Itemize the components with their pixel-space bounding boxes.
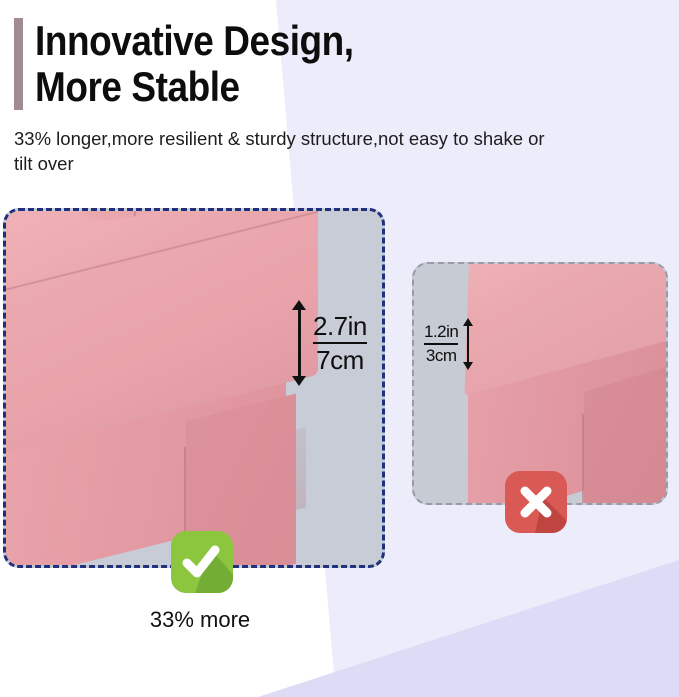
page-title: Innovative Design, More Stable — [35, 18, 354, 110]
ottoman-short-illustration — [414, 264, 666, 503]
measurement-metric-main: 7cm — [313, 345, 367, 375]
double-arrow-icon-alt — [463, 318, 474, 370]
page-subtitle: 33% longer,more resilient & sturdy struc… — [14, 126, 554, 176]
cross-badge — [505, 471, 567, 533]
arrow-shaft-alt — [467, 323, 469, 365]
ottoman-tall-tuft — [80, 208, 198, 230]
measurement-callout-main: 2.7in 7cm — [292, 300, 367, 386]
arrow-head-down — [292, 376, 306, 386]
measurement-metric-alt: 3cm — [424, 346, 458, 366]
title-row: Innovative Design, More Stable — [0, 0, 679, 110]
ottoman-tall-top-seam — [3, 211, 318, 295]
good-example-panel — [3, 208, 385, 568]
measurement-fraction-main: 2.7in 7cm — [313, 311, 367, 375]
arrow-head-down-alt — [463, 362, 473, 370]
measurement-divider-alt — [424, 343, 458, 345]
title-accent-bar — [14, 18, 23, 110]
bad-example-panel — [412, 262, 668, 505]
measurement-fraction-alt: 1.2in 3cm — [424, 322, 458, 366]
infographic-root: Innovative Design, More Stable 33% longe… — [0, 0, 679, 697]
cross-icon — [505, 471, 567, 533]
double-arrow-icon — [292, 300, 306, 386]
header: Innovative Design, More Stable 33% longe… — [0, 0, 679, 176]
good-example-caption: 33% more — [0, 607, 400, 633]
measurement-imperial-alt: 1.2in — [424, 322, 458, 342]
ottoman-tall-illustration — [6, 211, 382, 565]
check-badge — [171, 531, 233, 593]
check-icon — [171, 531, 233, 593]
measurement-callout-alt: 1.2in 3cm — [424, 318, 474, 370]
measurement-divider-main — [313, 342, 367, 344]
ottoman-short-body-seam — [582, 414, 584, 505]
arrow-shaft — [298, 307, 301, 379]
measurement-imperial-main: 2.7in — [313, 311, 367, 341]
